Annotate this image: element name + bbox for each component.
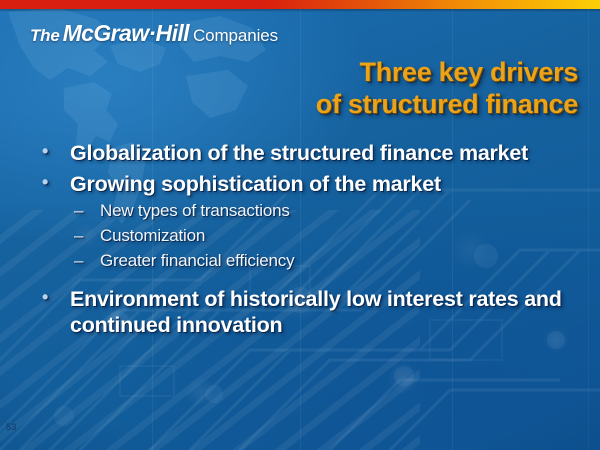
slide-body: • Globalization of the structured financ… [42, 140, 590, 343]
slide-title: Three key drivers of structured finance [138, 57, 578, 120]
bullet-item: • Environment of historically low intere… [42, 286, 590, 339]
bullet-marker-icon: • [42, 171, 70, 194]
mcgraw-hill-logo: TheMcGraw·HillCompanies [30, 20, 278, 47]
top-accent-bar-shadow [0, 9, 600, 12]
sub-bullet-item: – New types of transactions [74, 201, 590, 222]
logo-the: The [30, 26, 60, 45]
bullet-item: • Globalization of the structured financ… [42, 140, 590, 167]
bullet-text: Growing sophistication of the market [70, 171, 590, 198]
sub-bullet-text: New types of transactions [100, 201, 590, 222]
dash-marker-icon: – [74, 201, 100, 222]
logo-companies: Companies [193, 26, 278, 45]
sub-bullet-item: – Customization [74, 226, 590, 247]
top-accent-bar [0, 0, 600, 9]
sub-bullet-text: Customization [100, 226, 590, 247]
bullet-text: Globalization of the structured finance … [70, 140, 590, 167]
dash-marker-icon: – [74, 251, 100, 272]
sub-bullet-text: Greater financial efficiency [100, 251, 590, 272]
presentation-slide: TheMcGraw·HillCompanies Three key driver… [0, 0, 600, 450]
bullet-text: Environment of historically low interest… [70, 286, 590, 339]
sub-bullet-item: – Greater financial efficiency [74, 251, 590, 272]
bullet-item: • Growing sophistication of the market [42, 171, 590, 198]
dash-marker-icon: – [74, 226, 100, 247]
page-number: 53 [6, 422, 17, 432]
slide-title-line-2: of structured finance [138, 89, 578, 121]
bullet-marker-icon: • [42, 140, 70, 163]
slide-title-line-1: Three key drivers [138, 57, 578, 89]
logo-name: McGraw·Hill [63, 20, 189, 46]
bullet-marker-icon: • [42, 286, 70, 309]
